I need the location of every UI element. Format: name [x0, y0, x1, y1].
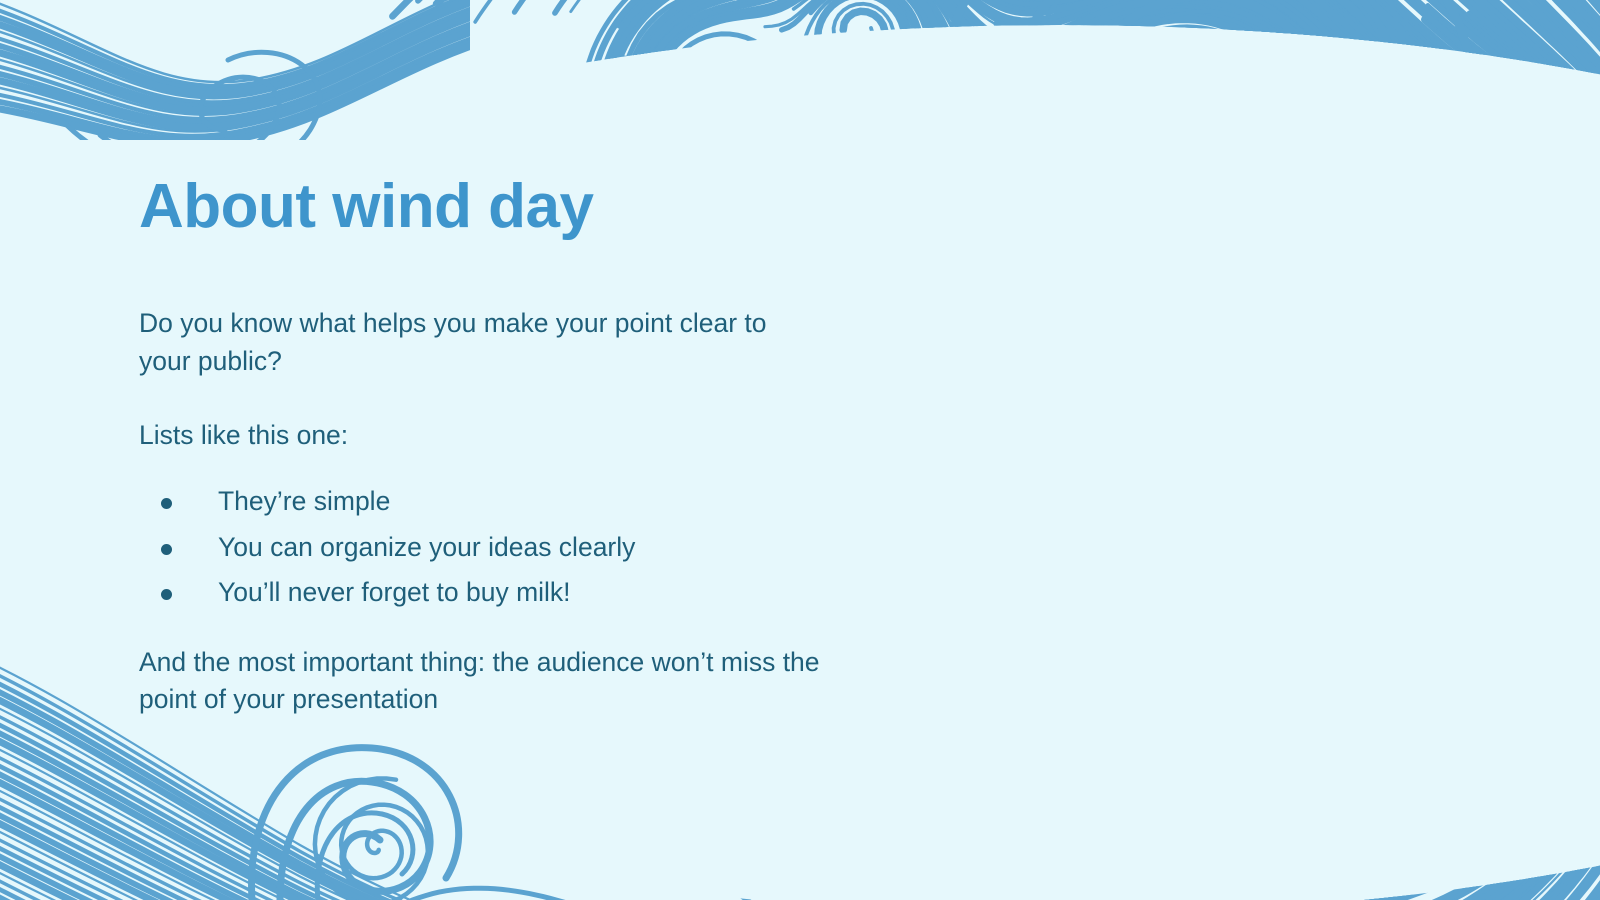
page-title: About wind day [139, 176, 859, 238]
list-item-label: You can organize your ideas clearly [218, 532, 635, 562]
closing-paragraph: And the most important thing: the audien… [139, 644, 839, 719]
bullet-dot-icon [161, 498, 172, 509]
bullet-dot-icon [161, 589, 172, 600]
slide-content: About wind day Do you know what helps yo… [139, 176, 859, 719]
list-item: You can organize your ideas clearly [139, 529, 859, 567]
list-item: They’re simple [139, 483, 859, 521]
presentation-slide: About wind day Do you know what helps yo… [0, 0, 1600, 900]
list-item-label: You’ll never forget to buy milk! [218, 577, 571, 607]
list-item: You’ll never forget to buy milk! [139, 574, 859, 612]
bullet-dot-icon [161, 544, 172, 555]
list-item-label: They’re simple [218, 486, 390, 516]
intro-paragraph: Do you know what helps you make your poi… [139, 305, 779, 380]
feature-bullet-list: They’re simple You can organize your ide… [139, 483, 859, 612]
lists-lead-in-paragraph: Lists like this one: [139, 417, 859, 455]
